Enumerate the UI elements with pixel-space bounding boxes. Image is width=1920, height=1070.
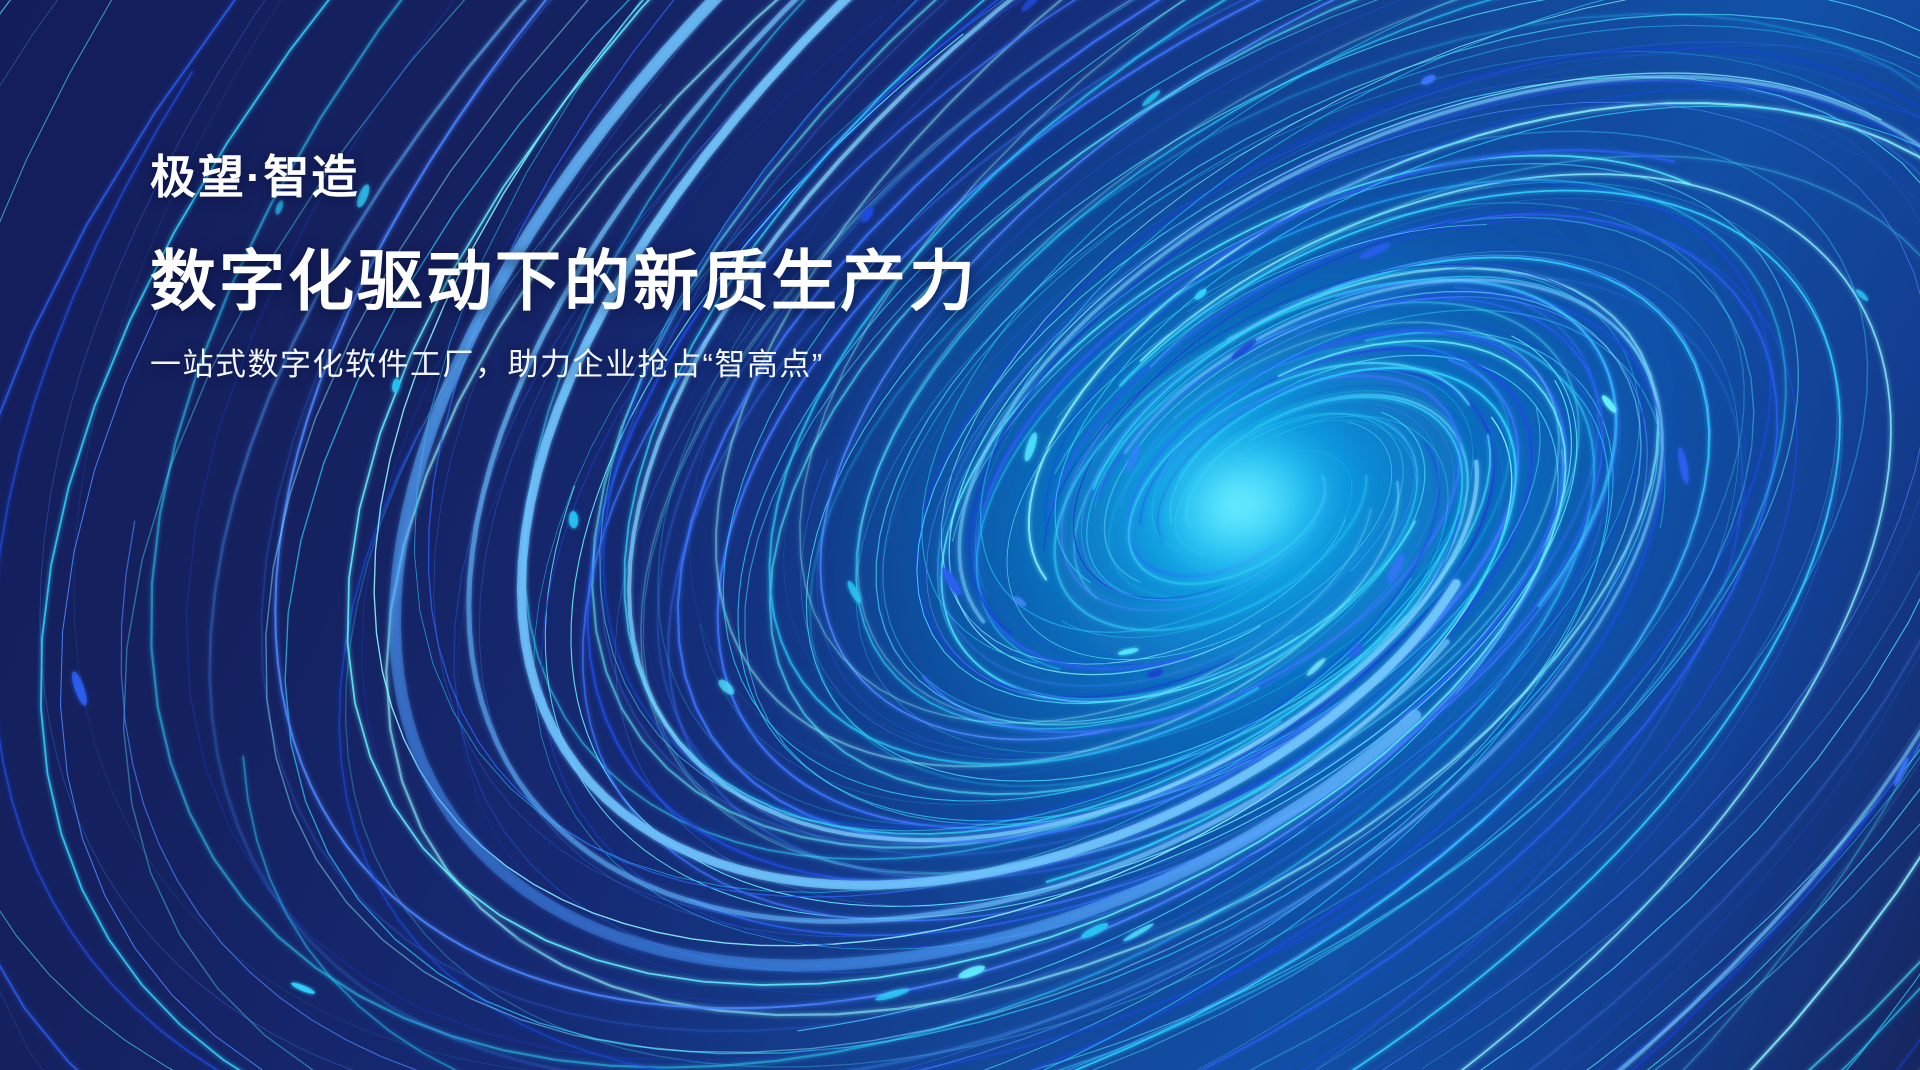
- vortex-particle: [69, 670, 90, 707]
- hero-slide: 极望·智造 数字化驱动下的新质生产力 一站式数字化软件工厂，助力企业抢占“智高点…: [0, 0, 1920, 1070]
- vortex-particle: [568, 511, 578, 529]
- brand-eyebrow: 极望·智造: [150, 150, 978, 205]
- hero-text-block: 极望·智造 数字化驱动下的新质生产力 一站式数字化软件工厂，助力企业抢占“智高点…: [150, 150, 978, 385]
- vortex-particle: [1020, 0, 1045, 13]
- vortex-particle: [1854, 288, 1869, 303]
- page-title: 数字化驱动下的新质生产力: [150, 243, 978, 321]
- vortex-particle: [290, 981, 316, 996]
- page-subtitle: 一站式数字化软件工厂，助力企业抢占“智高点”: [150, 345, 978, 385]
